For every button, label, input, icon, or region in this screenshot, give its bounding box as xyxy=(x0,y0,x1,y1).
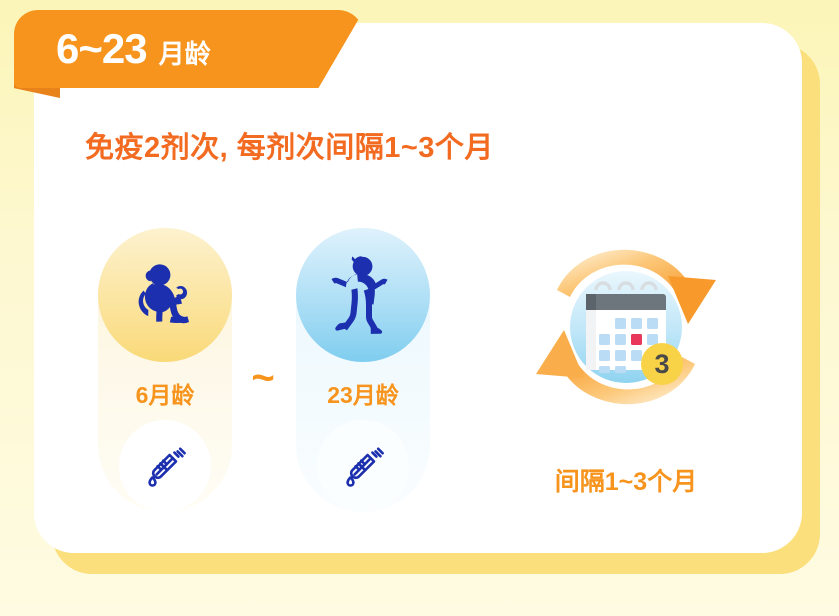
infographic-stage: 6~23 月龄 免疫2剂次, 每剂次间隔1~3个月 6月龄 xyxy=(0,0,839,616)
syringe-icon xyxy=(139,440,191,492)
interval-badge: 3 xyxy=(641,343,683,385)
interval-badge-value: 3 xyxy=(654,349,669,379)
age-card-label: 23月龄 xyxy=(296,376,430,410)
sitting-baby-icon xyxy=(133,262,197,328)
age-card-23-months: 23月龄 xyxy=(296,228,430,512)
syringe-icon xyxy=(337,440,389,492)
interval-caption: 间隔1~3个月 xyxy=(516,462,736,498)
age-orb-blue xyxy=(296,228,430,362)
header-ribbon-text: 6~23 月龄 xyxy=(14,28,211,70)
interval-cycle-graphic: 3 xyxy=(516,232,736,422)
age-range-unit: 月龄 xyxy=(159,41,211,67)
syringe-disc-left xyxy=(119,420,211,512)
age-card-label: 6月龄 xyxy=(98,376,232,410)
age-orb-yellow xyxy=(98,228,232,362)
subtitle-text: 免疫2剂次, 每剂次间隔1~3个月 xyxy=(85,124,494,166)
age-range-value: 6~23 xyxy=(56,28,147,70)
calendar-highlighted-day xyxy=(631,334,642,345)
range-separator: ~ xyxy=(232,358,294,398)
header-ribbon: 6~23 月龄 xyxy=(14,10,364,88)
standing-toddler-icon xyxy=(327,254,399,336)
syringe-disc-right xyxy=(317,420,409,512)
age-card-6-months: 6月龄 xyxy=(98,228,232,512)
